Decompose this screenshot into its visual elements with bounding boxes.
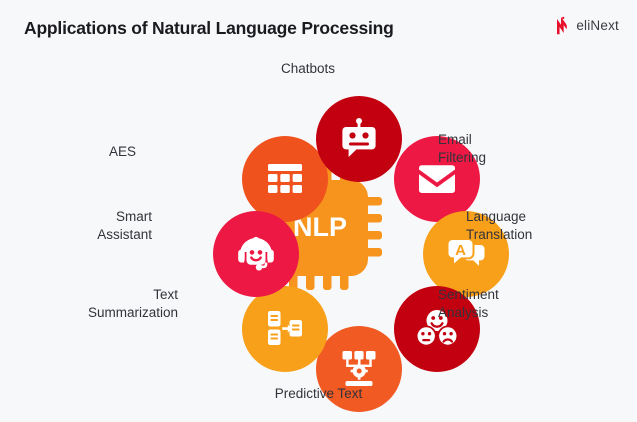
infographic-slide: Applications of Natural Language Process… <box>0 0 637 422</box>
brand-name: eliNext <box>576 18 619 33</box>
label-aes: AES <box>28 143 136 161</box>
robot-chat-icon <box>336 116 382 162</box>
label-predictive-text: Predictive Text <box>226 385 411 403</box>
label-chatbots: Chatbots <box>233 60 383 78</box>
node-text-summarization[interactable] <box>242 286 328 372</box>
brand-logo: eliNext <box>555 16 619 35</box>
node-smart-assistant[interactable] <box>213 211 299 297</box>
label-smart-assistant: Smart Assistant <box>28 208 152 244</box>
table-grid-icon <box>263 157 307 201</box>
page-title: Applications of Natural Language Process… <box>24 18 394 39</box>
node-chatbots[interactable] <box>316 96 402 182</box>
label-language-translation: Language Translation <box>466 208 631 244</box>
elinext-n-mark-icon <box>555 16 570 35</box>
node-aes[interactable] <box>242 136 328 222</box>
nlp-hub-diagram: NLP <box>170 78 470 378</box>
label-text-summarization: Text Summarization <box>28 286 178 322</box>
robot-headset-icon <box>233 231 279 277</box>
label-sentiment-analysis: Sentiment Analysis <box>438 286 598 322</box>
label-email-filtering: Email Filtering <box>438 131 598 167</box>
documents-arrow-icon <box>262 306 308 352</box>
svg-text:A: A <box>455 242 466 259</box>
